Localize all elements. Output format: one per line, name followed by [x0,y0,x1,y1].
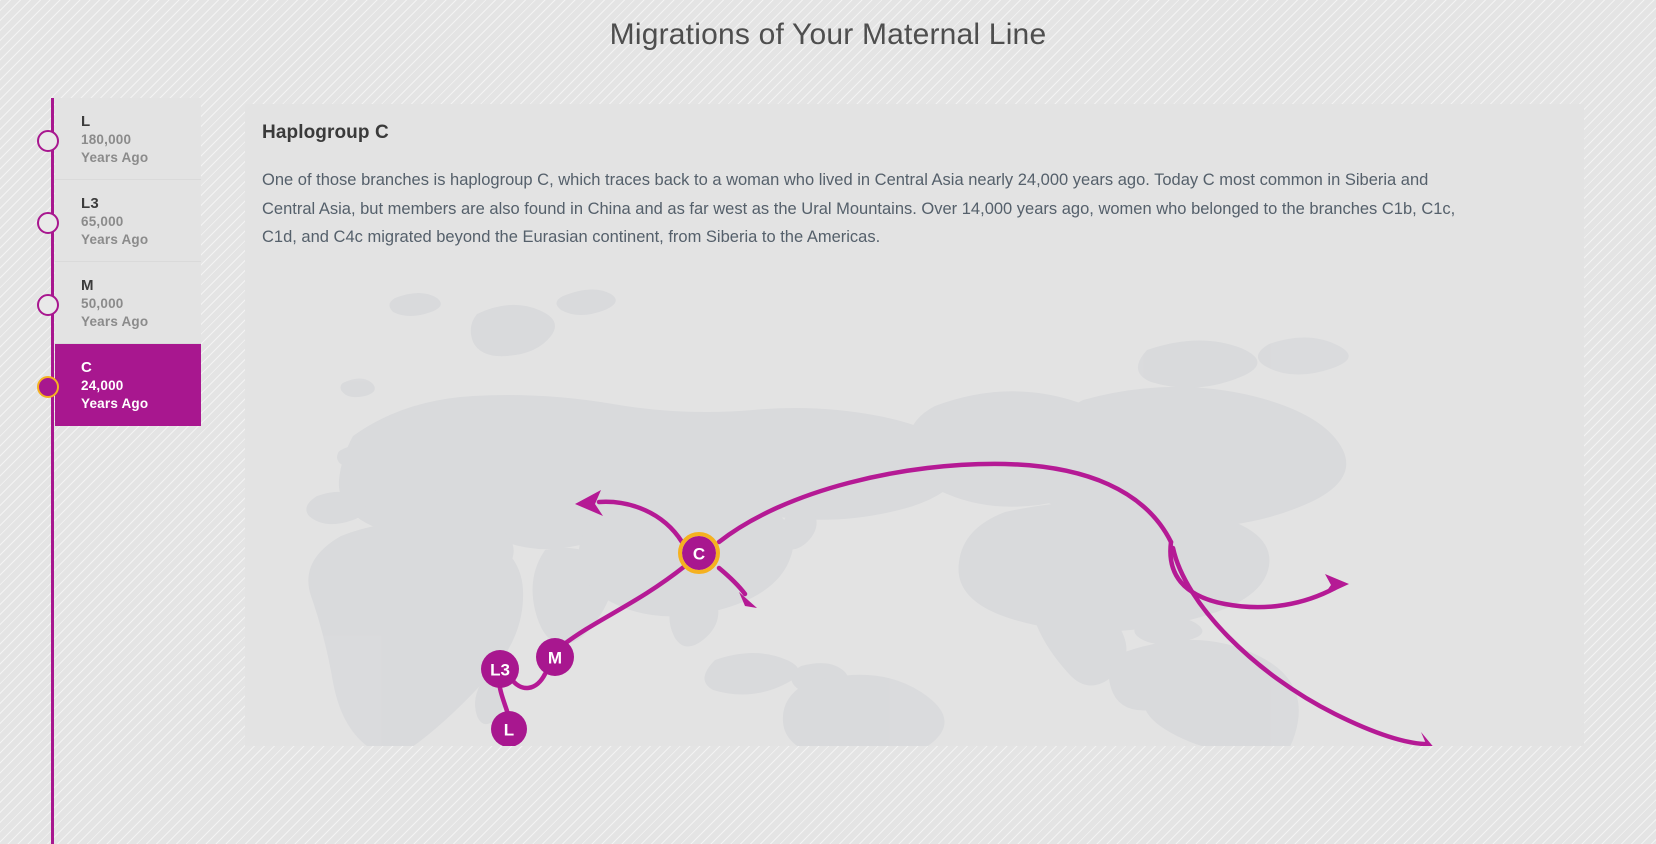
world-landmass-silhouette [306,289,1348,746]
timeline-item-list: L 180,000 Years Ago L3 65,000 Years Ago … [55,98,201,426]
map-marker-label: M [548,649,562,668]
map-marker-label: L3 [490,661,510,680]
timeline-item-C[interactable]: C 24,000 Years Ago [55,344,201,426]
map-marker-M[interactable]: M [536,638,574,676]
haplogroup-title: Haplogroup C [262,122,389,144]
page-title: Migrations of Your Maternal Line [0,14,1656,56]
timeline-item-ago: Years Ago [81,313,201,331]
haplogroup-timeline: L 180,000 Years Ago L3 65,000 Years Ago … [0,90,215,844]
map-marker-L3[interactable]: L3 [481,650,519,688]
timeline-item-ago: Years Ago [81,149,201,167]
timeline-item-label: L [81,112,201,131]
timeline-item-years: 65,000 [81,213,201,231]
timeline-item-years: 180,000 [81,131,201,149]
migration-world-map: L L3 M C [245,274,1584,746]
map-marker-L[interactable]: L [491,711,527,746]
arrow-north-america-icon [1323,574,1349,596]
timeline-item-L3[interactable]: L3 65,000 Years Ago [55,180,201,262]
timeline-item-L[interactable]: L 180,000 Years Ago [55,98,201,180]
timeline-item-label: M [81,276,201,295]
haplogroup-detail-panel: Haplogroup C One of those branches is ha… [245,104,1584,746]
timeline-item-years: 50,000 [81,295,201,313]
map-marker-label: L [504,721,514,740]
timeline-item-years: 24,000 [81,377,201,395]
timeline-axis-line [51,98,54,844]
timeline-node-icon [37,294,59,316]
timeline-node-icon-selected [37,376,59,398]
timeline-item-label: C [81,358,201,377]
haplogroup-description: One of those branches is haplogroup C, w… [262,166,1484,252]
timeline-item-M[interactable]: M 50,000 Years Ago [55,262,201,344]
map-marker-C-selected[interactable]: C [680,534,718,572]
timeline-item-ago: Years Ago [81,231,201,249]
timeline-item-label: L3 [81,194,201,213]
map-marker-label: C [693,545,705,564]
timeline-item-ago: Years Ago [81,395,201,413]
timeline-node-icon [37,212,59,234]
timeline-node-icon [37,130,59,152]
